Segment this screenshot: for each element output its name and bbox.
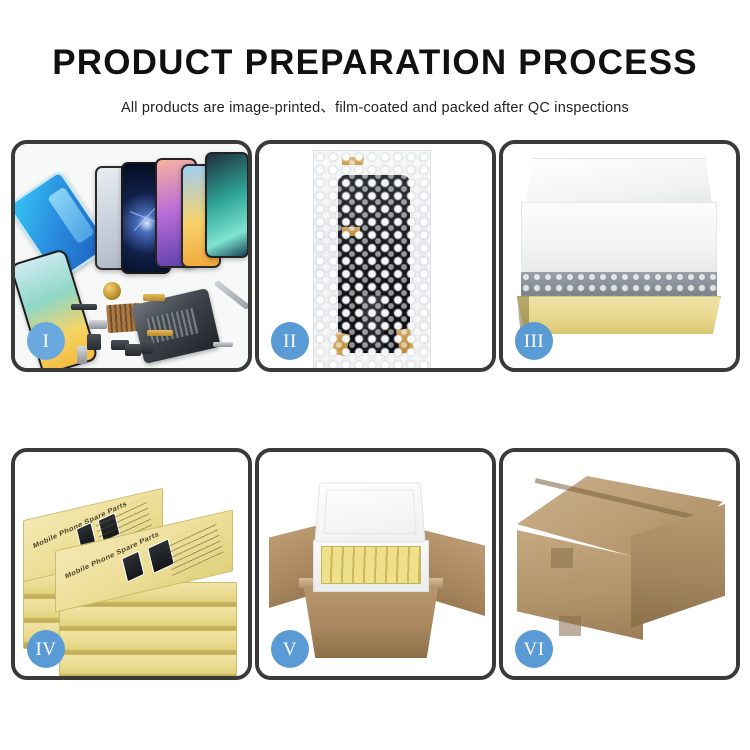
box-spec-lines-front [165, 519, 224, 576]
stacked-box-b3 [59, 630, 237, 657]
process-steps-grid: I II [11, 140, 741, 680]
step-4-photo: Mobile Phone Spare Parts Mobile Phone Sp… [15, 452, 248, 676]
box-screen-art-front-1 [121, 550, 144, 582]
carton-tape-patch-bottom [559, 616, 581, 636]
part-flex-cable-2 [147, 330, 173, 336]
page-subtitle: All products are image-printed、film-coat… [0, 80, 750, 117]
step-badge-2: II [271, 322, 309, 360]
bubble-wrap-bag-icon [313, 150, 431, 368]
step-1-photo: I [15, 144, 248, 368]
step-card-5: V [255, 448, 496, 680]
step-3-photo: III [503, 144, 736, 368]
header: PRODUCT PREPARATION PROCESS All products… [0, 0, 750, 117]
tweezers-icon [214, 280, 248, 311]
page-title: PRODUCT PREPARATION PROCESS [0, 0, 750, 80]
part-screw-set [213, 342, 233, 347]
bubble-padding-icon [521, 272, 717, 300]
part-camera-module [87, 334, 101, 350]
foam-lid-icon [314, 483, 425, 543]
phone-teal-screen-icon [205, 152, 248, 258]
part-speaker-mesh [125, 344, 141, 356]
part-flex-cable-1 [143, 294, 165, 301]
step-2-photo: II [259, 144, 492, 368]
step-6-photo: VI [503, 452, 736, 676]
stacked-box-b4 [59, 654, 237, 676]
foam-sheet-icon [521, 202, 717, 276]
step-5-photo: V [259, 452, 492, 676]
step-badge-5: V [271, 630, 309, 668]
step-badge-4: IV [27, 630, 65, 668]
step-card-6: VI [499, 448, 740, 680]
stacked-box-b2 [59, 606, 237, 633]
wrapped-screen-icon [338, 175, 410, 353]
step-card-1: I [11, 140, 252, 372]
yellow-boxes-inside-icon [321, 546, 421, 584]
carton-body-icon [303, 582, 439, 658]
tape-strip-middle [342, 227, 360, 236]
step-badge-1: I [27, 322, 65, 360]
part-bracket-1 [89, 320, 107, 329]
speaker-part-icon [103, 282, 121, 300]
step-badge-6: VI [515, 630, 553, 668]
step-card-2: II [255, 140, 496, 372]
part-connector-1 [71, 304, 97, 310]
tape-strip-top [342, 157, 364, 165]
tape-strip-lower-right [396, 328, 414, 354]
screen-flex-cable-icon [362, 295, 384, 351]
tape-strip-lower-left [332, 332, 350, 356]
part-vibrator [141, 340, 153, 354]
step-card-3: III [499, 140, 740, 372]
product-preparation-infographic: PRODUCT PREPARATION PROCESS All products… [0, 0, 750, 750]
step-badge-3: III [515, 322, 553, 360]
part-sim-tray [77, 346, 87, 364]
carton-tape-patch-top [551, 548, 573, 568]
step-card-4: Mobile Phone Spare Parts Mobile Phone Sp… [11, 448, 252, 680]
